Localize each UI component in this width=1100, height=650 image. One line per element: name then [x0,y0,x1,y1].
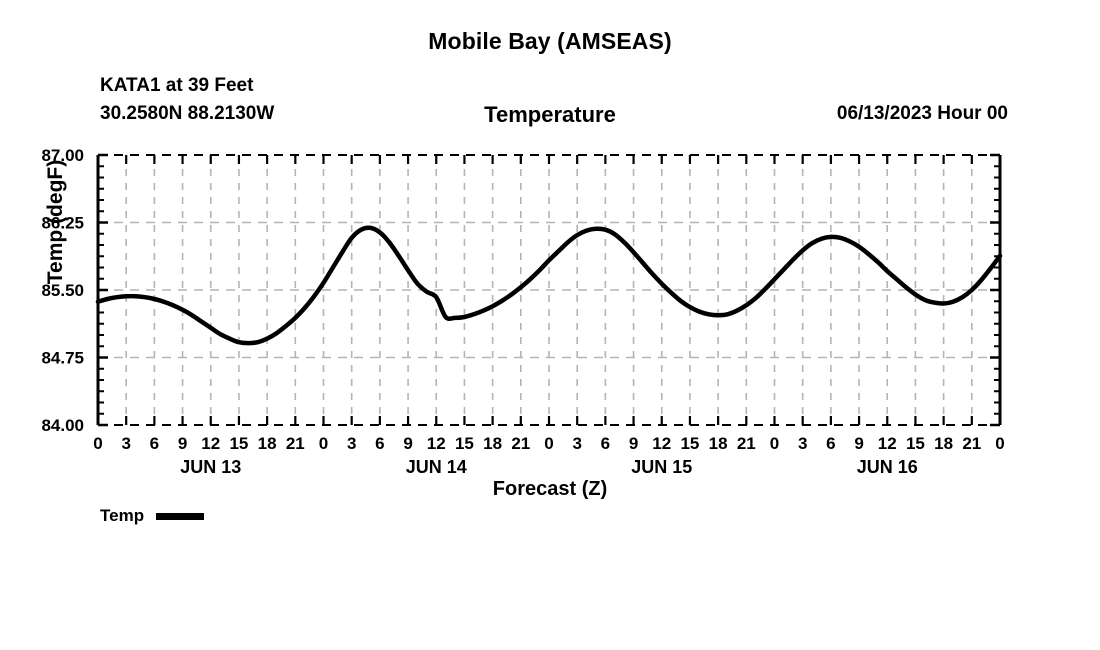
svg-text:15: 15 [229,434,248,453]
svg-text:9: 9 [854,434,863,453]
svg-text:JUN 13: JUN 13 [180,457,241,477]
svg-text:0: 0 [319,434,328,453]
svg-text:12: 12 [201,434,220,453]
svg-text:87.00: 87.00 [41,146,84,165]
svg-text:21: 21 [286,434,305,453]
svg-text:0: 0 [544,434,553,453]
legend-label-temp: Temp [100,506,144,526]
svg-text:85.50: 85.50 [41,281,84,300]
svg-text:86.25: 86.25 [41,214,84,233]
svg-text:JUN 14: JUN 14 [406,457,467,477]
svg-text:0: 0 [93,434,102,453]
svg-text:18: 18 [934,434,953,453]
svg-text:21: 21 [737,434,756,453]
svg-text:15: 15 [680,434,699,453]
svg-text:3: 3 [572,434,581,453]
x-axis-label: Forecast (Z) [0,478,1100,501]
y-axis-tick-labels: 84.0084.7585.5086.2587.00 [41,146,84,435]
svg-text:6: 6 [150,434,159,453]
svg-text:JUN 16: JUN 16 [857,457,918,477]
svg-text:3: 3 [347,434,356,453]
chart-page: Mobile Bay (AMSEAS) KATA1 at 39 Feet 30.… [0,0,1100,650]
svg-text:15: 15 [455,434,474,453]
svg-text:21: 21 [962,434,981,453]
svg-text:12: 12 [652,434,671,453]
svg-text:18: 18 [258,434,277,453]
svg-text:18: 18 [483,434,502,453]
svg-text:12: 12 [427,434,446,453]
svg-text:15: 15 [906,434,925,453]
svg-text:JUN 15: JUN 15 [631,457,692,477]
svg-text:9: 9 [178,434,187,453]
svg-text:18: 18 [709,434,728,453]
svg-text:3: 3 [798,434,807,453]
svg-text:9: 9 [403,434,412,453]
svg-text:3: 3 [121,434,130,453]
svg-text:6: 6 [375,434,384,453]
svg-text:84.00: 84.00 [41,416,84,435]
temperature-line-chart: 84.0084.7585.5086.2587.00 03691215182103… [0,0,1100,650]
svg-text:0: 0 [770,434,779,453]
svg-text:9: 9 [629,434,638,453]
x-axis-tick-labels: 0369121518210369121518210369121518210369… [93,434,1004,453]
svg-text:0: 0 [995,434,1004,453]
chart-legend: Temp [100,506,204,526]
svg-text:6: 6 [826,434,835,453]
svg-text:21: 21 [511,434,530,453]
svg-text:12: 12 [878,434,897,453]
svg-text:84.75: 84.75 [41,349,84,368]
svg-text:6: 6 [601,434,610,453]
x-axis-day-labels: JUN 13JUN 14JUN 15JUN 16 [180,457,918,477]
legend-swatch-temp [156,513,204,520]
